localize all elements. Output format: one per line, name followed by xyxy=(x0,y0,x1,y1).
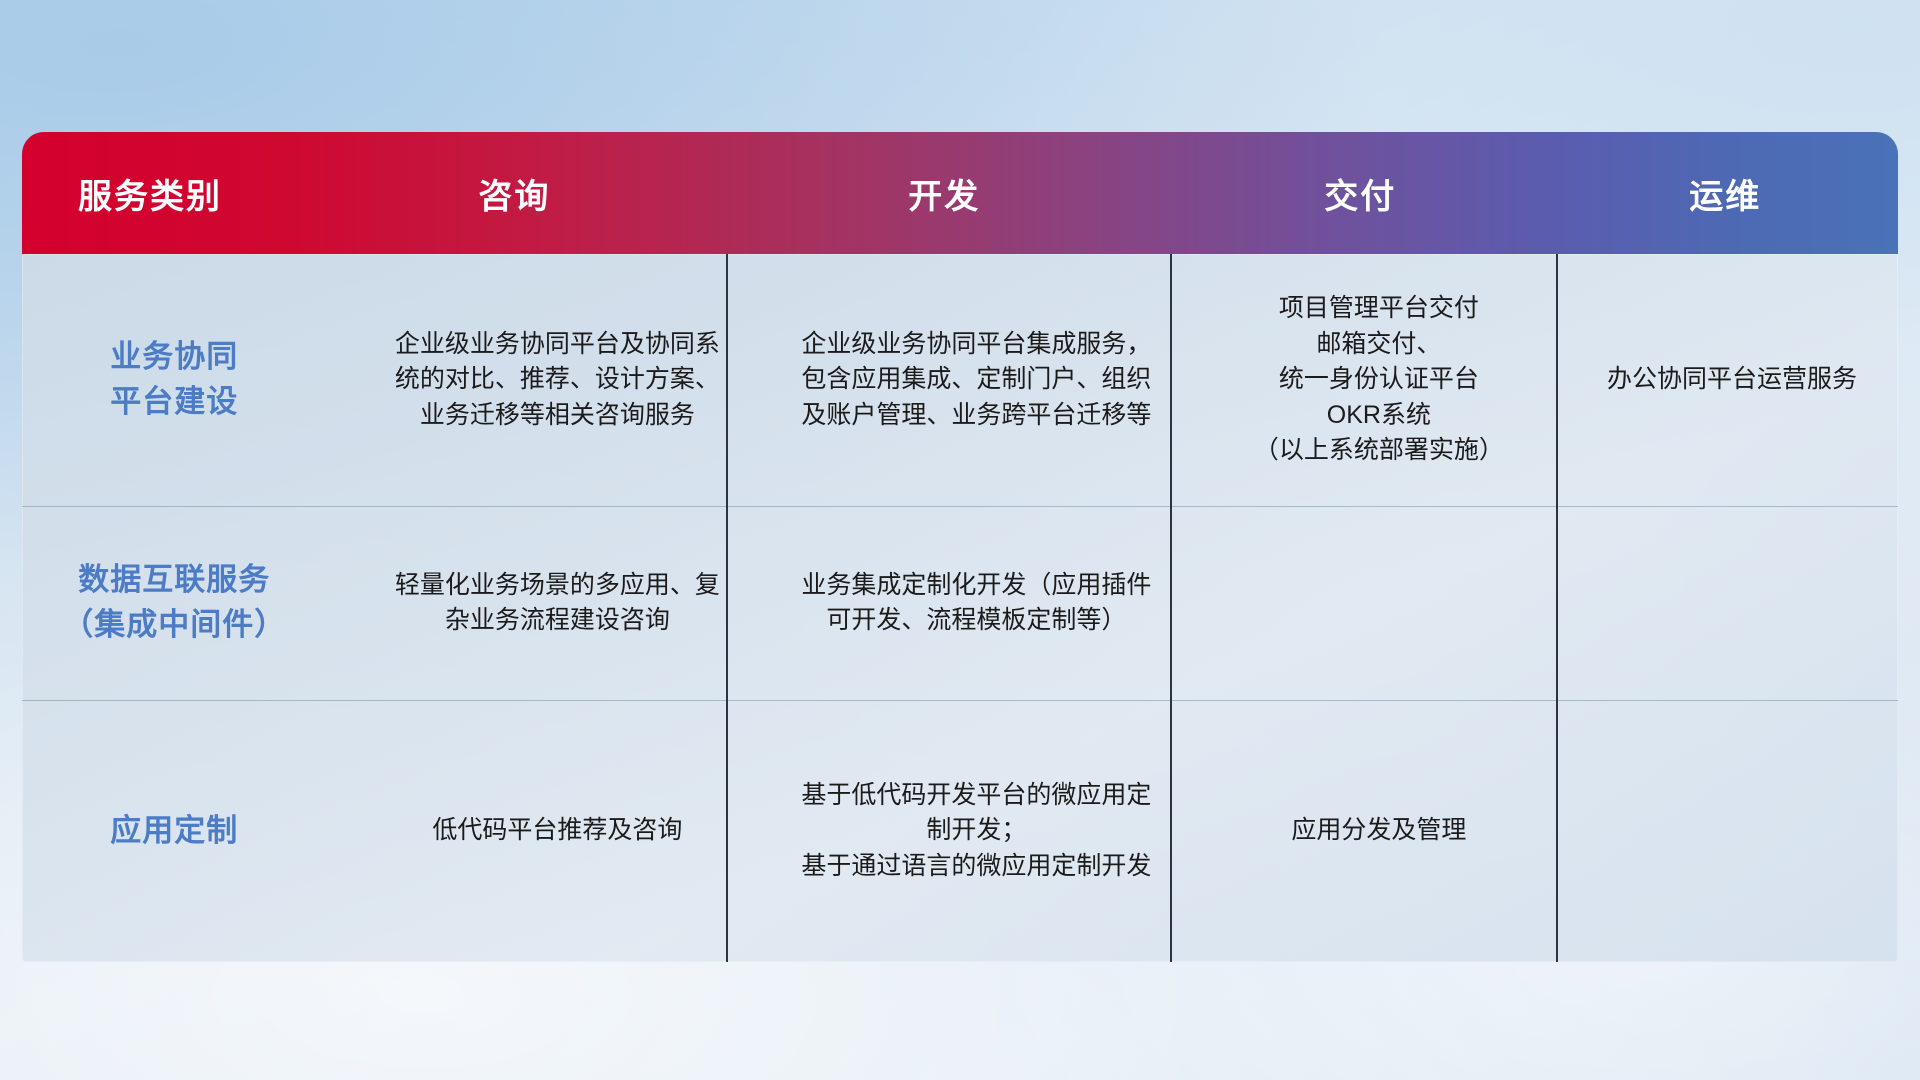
cell-delivery-r1: 项目管理平台交付 邮箱交付、 统一身份认证平台 OKR系统 （以上系统部署实施） xyxy=(1192,254,1566,506)
service-matrix-table: 服务类别 咨询 开发 交付 运维 业务协同 平台建设 企业级业务协同平台及协同系… xyxy=(22,132,1898,962)
table-header-delivery: 交付 xyxy=(1168,169,1552,218)
row-label-data-interconnect: 数据互联服务 （集成中间件） xyxy=(22,506,298,700)
row-label-spacer xyxy=(298,700,353,962)
row-label-spacer xyxy=(298,506,353,700)
table-header-service-category: 服务类别 xyxy=(22,169,308,218)
cell-operations-r1: 办公协同平台运营服务 xyxy=(1566,254,1898,506)
table-row: 业务协同 平台建设 企业级业务协同平台及协同系 统的对比、推荐、设计方案、 业务… xyxy=(22,254,1898,506)
table-row: 应用定制 低代码平台推荐及咨询 基于低代码开发平台的微应用定 制开发； 基于通过… xyxy=(22,700,1898,962)
table-header-row: 服务类别 咨询 开发 交付 运维 xyxy=(22,132,1898,254)
table-row: 数据互联服务 （集成中间件） 轻量化业务场景的多应用、复 杂业务流程建设咨询 业… xyxy=(22,506,1898,700)
cell-development-r2: 业务集成定制化开发（应用插件 可开发、流程模板定制等） xyxy=(761,506,1192,700)
column-divider-2 xyxy=(1170,254,1172,962)
column-divider-1 xyxy=(726,254,728,962)
table-header-consulting: 咨询 xyxy=(308,169,720,218)
cell-consulting-r2: 轻量化业务场景的多应用、复 杂业务流程建设咨询 xyxy=(354,506,761,700)
row-label-business-collaboration: 业务协同 平台建设 xyxy=(22,254,298,506)
row-label-spacer xyxy=(298,254,353,506)
cell-consulting-r1: 企业级业务协同平台及协同系 统的对比、推荐、设计方案、 业务迁移等相关咨询服务 xyxy=(354,254,761,506)
table-header-operations: 运维 xyxy=(1553,169,1899,218)
cell-delivery-r3: 应用分发及管理 xyxy=(1192,700,1566,962)
column-divider-3 xyxy=(1556,254,1558,962)
table-header-development: 开发 xyxy=(720,169,1168,218)
cell-development-r3: 基于低代码开发平台的微应用定 制开发； 基于通过语言的微应用定制开发 xyxy=(761,700,1192,962)
cell-operations-r3 xyxy=(1566,700,1898,962)
cell-operations-r2 xyxy=(1566,506,1898,700)
cell-development-r1: 企业级业务协同平台集成服务， 包含应用集成、定制门户、组织 及账户管理、业务跨平… xyxy=(761,254,1192,506)
cell-consulting-r3: 低代码平台推荐及咨询 xyxy=(354,700,761,962)
row-label-app-customization: 应用定制 xyxy=(22,700,298,962)
cell-delivery-r2 xyxy=(1192,506,1566,700)
